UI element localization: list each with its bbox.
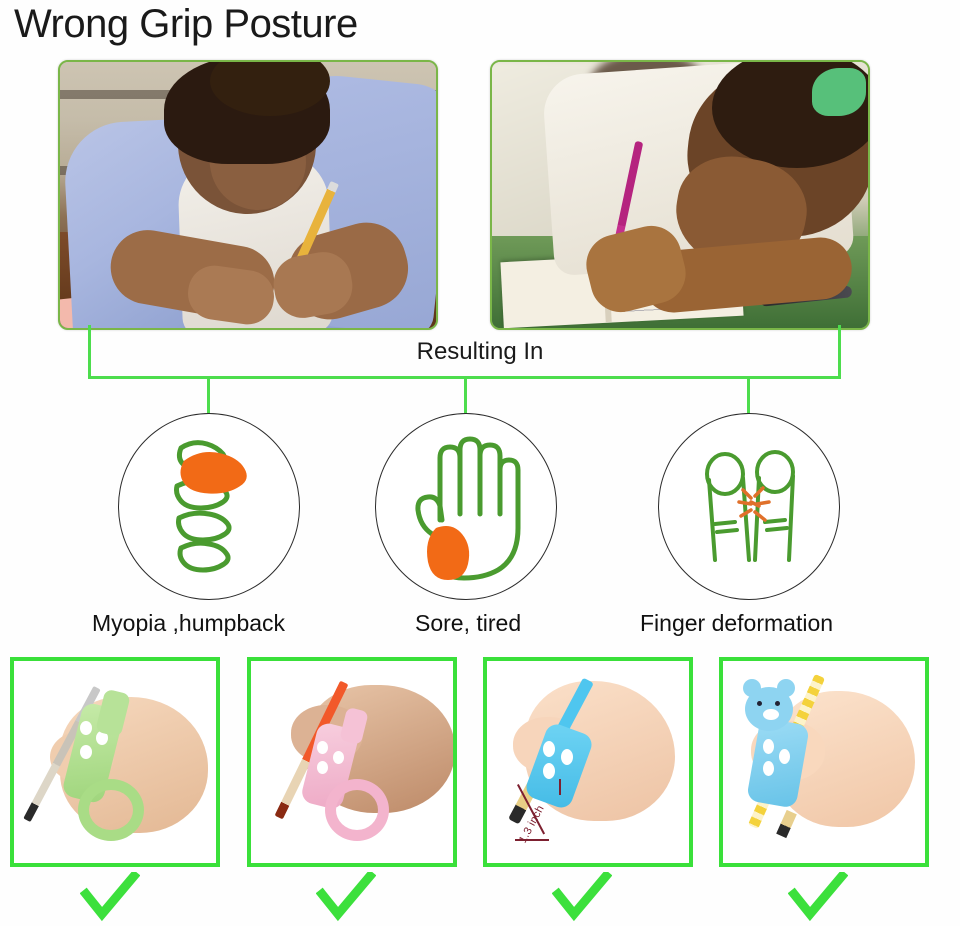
connector-branch-3 bbox=[747, 376, 750, 416]
page-title: Wrong Grip Posture bbox=[14, 2, 358, 46]
infographic-root: Wrong Grip Posture bbox=[0, 0, 960, 926]
symptom-circle-sore-tired bbox=[375, 413, 557, 600]
check-icon-2 bbox=[316, 872, 376, 922]
check-icon-1 bbox=[80, 872, 140, 922]
dimension-label: 1.3 inch bbox=[517, 769, 565, 845]
product-pink-image bbox=[251, 661, 453, 863]
photo-girl-writing-image bbox=[492, 62, 868, 328]
dimension-annotation: 1.3 inch bbox=[515, 779, 567, 851]
fingers-icon bbox=[659, 414, 839, 599]
product-green-image bbox=[14, 661, 216, 863]
connector-branch-2 bbox=[464, 376, 467, 416]
product-bear-image bbox=[723, 661, 925, 863]
photo-boy-writing-image bbox=[60, 62, 436, 328]
product-bear-pencil-grip bbox=[719, 657, 929, 867]
check-icon-4 bbox=[788, 872, 848, 922]
symptom-label-1: Myopia ,humpback bbox=[92, 610, 285, 637]
spine-icon bbox=[119, 414, 299, 599]
product-blue-image: 1.3 inch bbox=[487, 661, 689, 863]
check-icon-3 bbox=[552, 872, 612, 922]
photo-girl-writing bbox=[490, 60, 870, 330]
product-green-pencil-grip bbox=[10, 657, 220, 867]
connector-label: Resulting In bbox=[0, 338, 960, 366]
connector-branch-1 bbox=[207, 376, 210, 416]
symptom-label-2: Sore, tired bbox=[415, 610, 521, 637]
symptom-circle-finger-deformation bbox=[658, 413, 840, 600]
symptom-label-3: Finger deformation bbox=[640, 610, 833, 637]
hand-icon bbox=[376, 414, 556, 599]
symptom-circle-myopia-humpback bbox=[118, 413, 300, 600]
product-blue-pencil-grip: 1.3 inch bbox=[483, 657, 693, 867]
product-pink-pencil-grip bbox=[247, 657, 457, 867]
photo-boy-writing bbox=[58, 60, 438, 330]
